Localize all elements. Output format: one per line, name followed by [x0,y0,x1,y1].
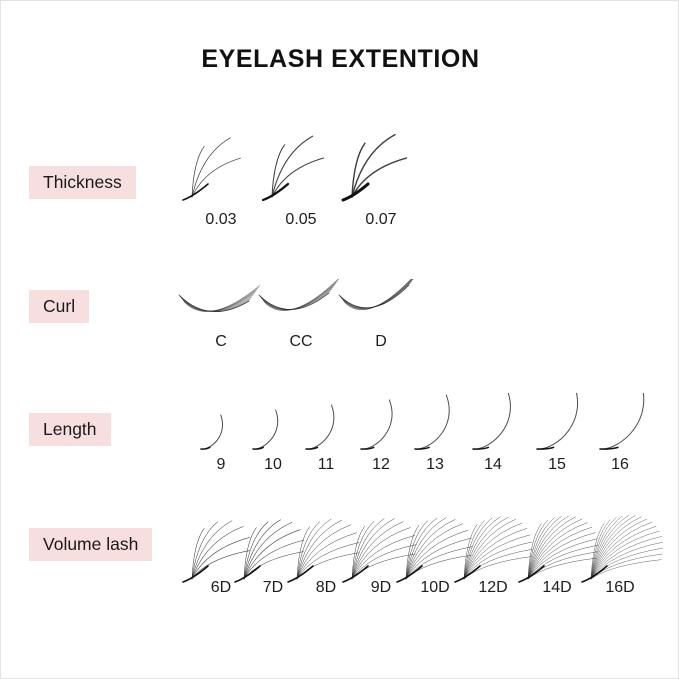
lash-sample-curl-C [175,279,267,337]
lash-graphic [258,131,344,203]
lash-graphic [338,131,424,203]
lash-caption-curl-D: D [341,333,421,351]
lash-sample-length-15 [531,393,583,455]
lash-sample-thickness-0.03 [178,131,264,203]
lash-graphic [175,279,267,337]
eyelash-extension-chart: EYELASH EXTENTION Thickness0.030.050.07C… [0,0,679,679]
lash-sample-length-12 [355,393,407,455]
lash-caption-volume_lash-16D: 16D [580,579,660,597]
row-label-thickness: Thickness [29,166,136,199]
lash-caption-length-16: 16 [580,456,660,474]
lash-sample-length-11 [300,393,352,455]
row-label-volume_lash: Volume lash [29,528,152,561]
lash-graphic [577,513,663,585]
lash-caption-thickness-0.07: 0.07 [341,211,421,229]
lash-graphic [467,393,519,455]
lash-graphic [355,393,407,455]
lash-sample-thickness-0.07 [338,131,424,203]
lash-graphic [178,131,264,203]
lash-sample-curl-CC [255,279,347,337]
lash-graphic [255,279,347,337]
lash-sample-length-14 [467,393,519,455]
lash-graphic [300,393,352,455]
lash-sample-length-13 [409,393,461,455]
page-title: EYELASH EXTENTION [1,45,679,74]
lash-graphic [594,393,646,455]
lash-graphic [409,393,461,455]
lash-sample-length-10 [247,393,299,455]
row-label-curl: Curl [29,290,89,323]
lash-sample-volume_lash-16D [577,513,663,585]
lash-sample-curl-D [335,279,427,337]
lash-caption-thickness-0.03: 0.03 [181,211,261,229]
lash-graphic [247,393,299,455]
lash-sample-length-9 [195,393,247,455]
lash-caption-curl-CC: CC [261,333,341,351]
lash-graphic [195,393,247,455]
row-label-length: Length [29,413,111,446]
lash-sample-length-16 [594,393,646,455]
lash-caption-thickness-0.05: 0.05 [261,211,341,229]
lash-graphic [335,279,427,337]
lash-caption-curl-C: C [181,333,261,351]
lash-sample-thickness-0.05 [258,131,344,203]
lash-graphic [531,393,583,455]
